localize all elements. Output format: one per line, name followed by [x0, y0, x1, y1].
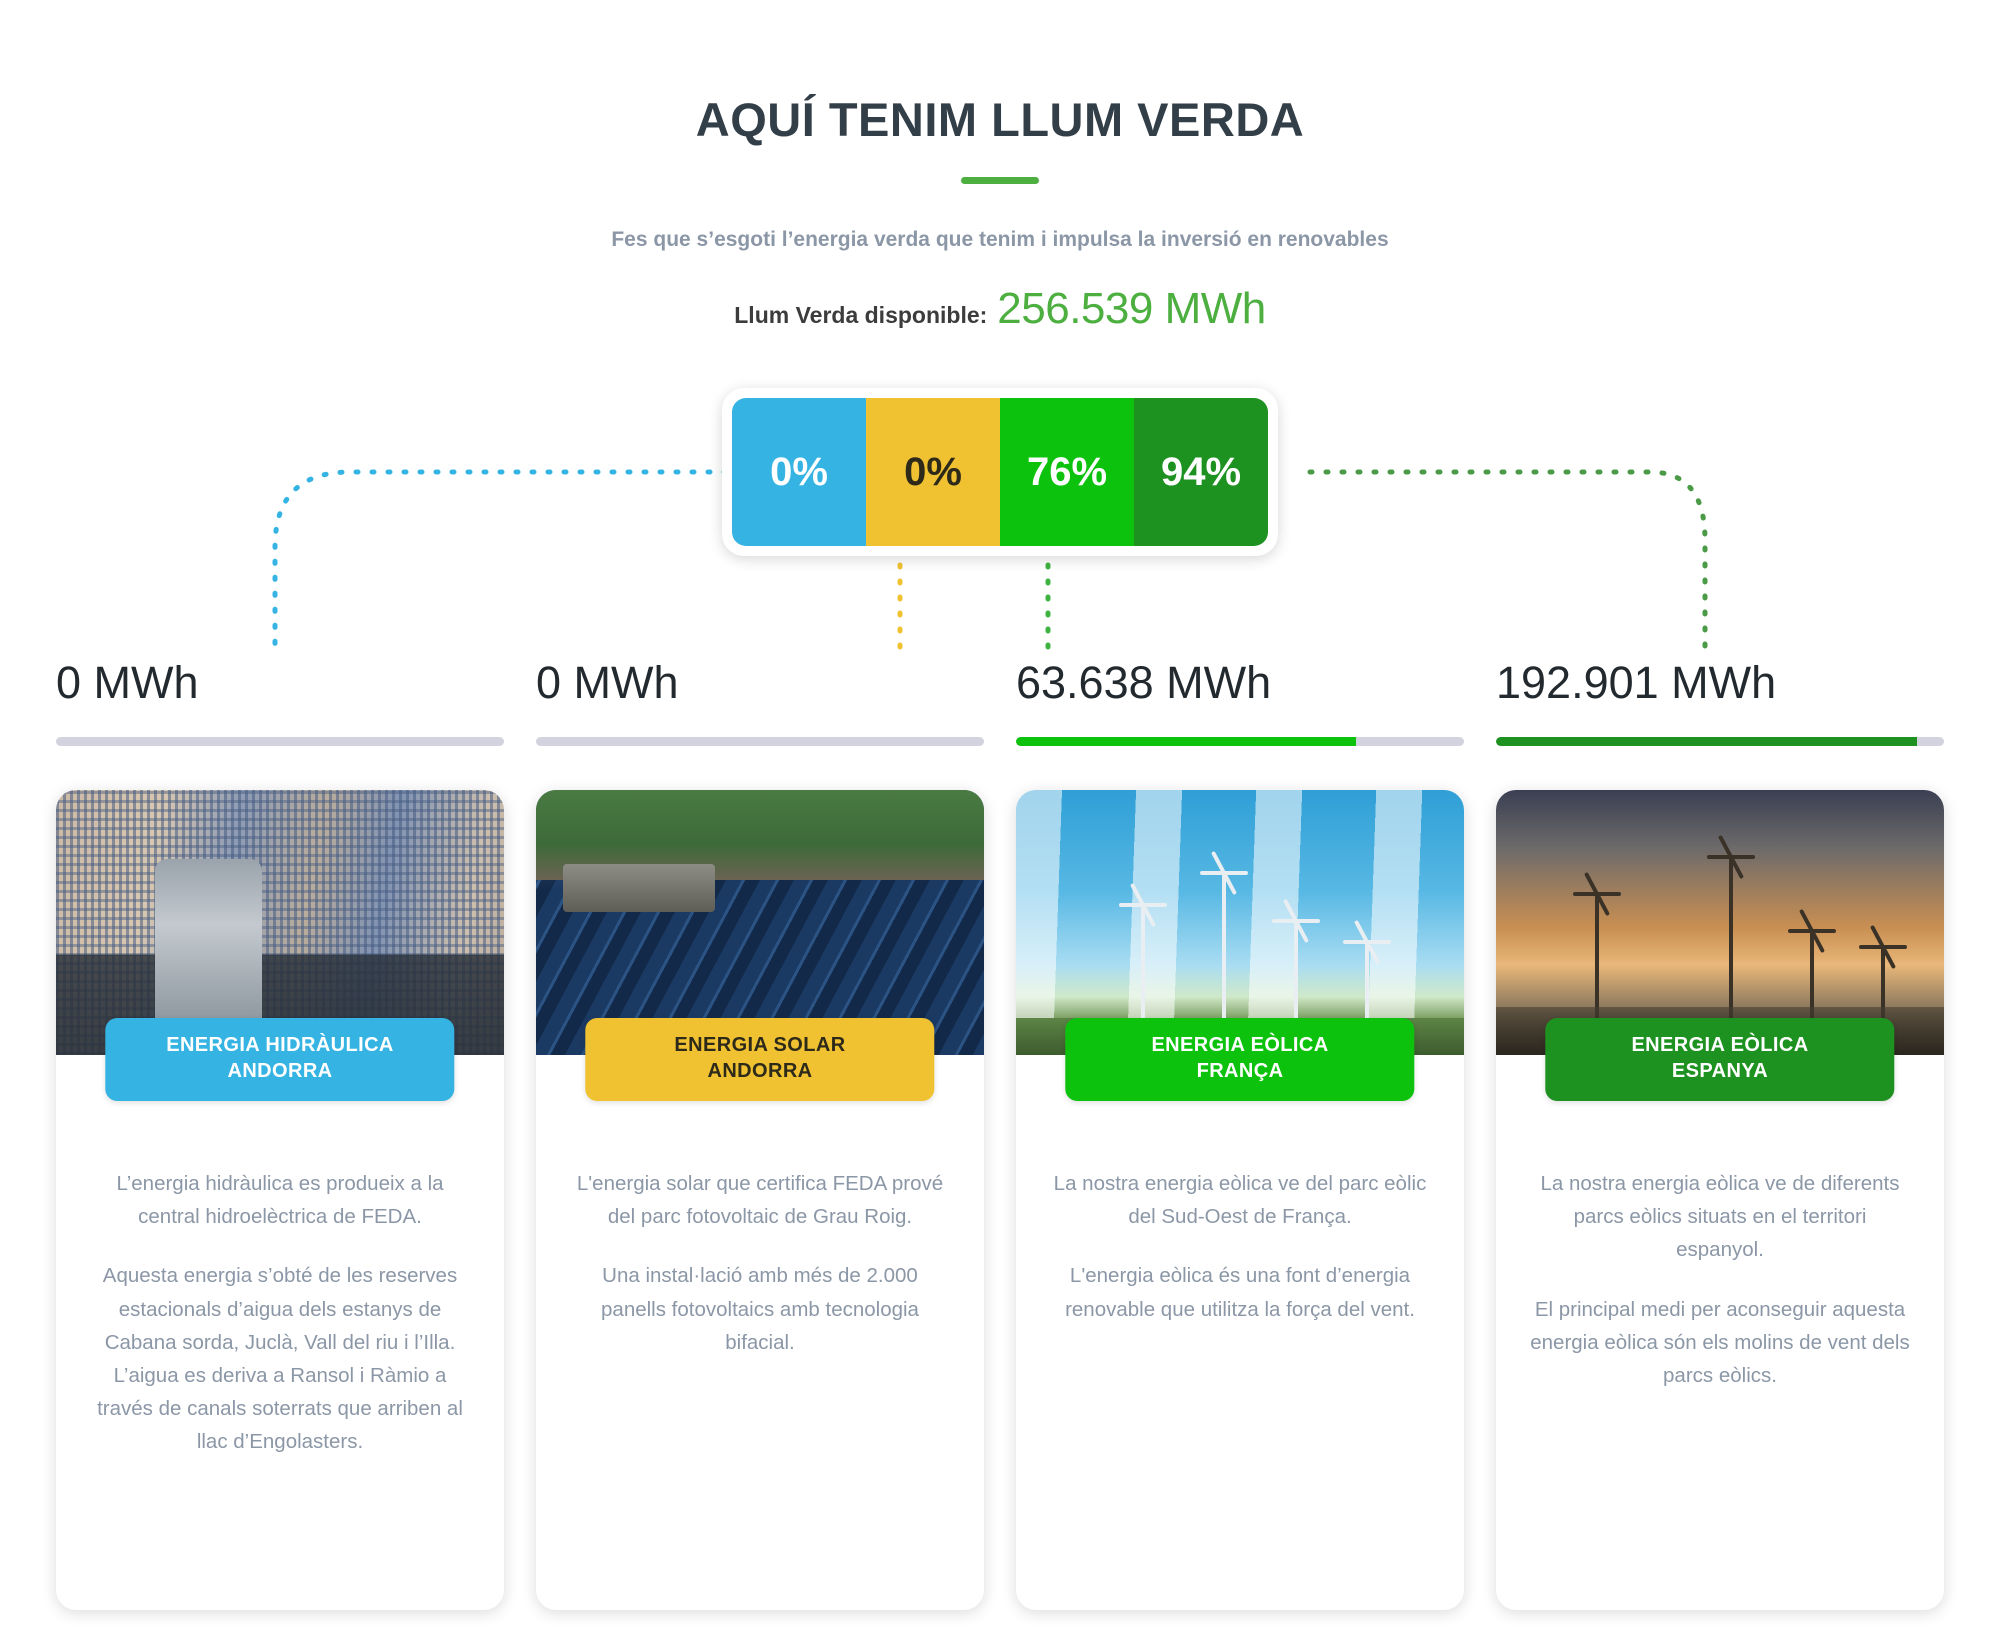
- wind-turbine-icon: [1729, 859, 1733, 1023]
- card-hydro-body: L’energia hidràulica es produeix a la ce…: [56, 1055, 504, 1499]
- segment-solar[interactable]: 0%: [866, 398, 1000, 546]
- card-solar-paragraph-2: Una instal·lació amb més de 2.000 panell…: [570, 1259, 950, 1359]
- card-wind-es-photo: [1496, 790, 1944, 1055]
- card-hydro-paragraph-2: Aquesta energia s’obté de les reserves e…: [90, 1259, 470, 1458]
- card-wind-es-badge-label: ENERGIA EÒLICAESPANYA: [1631, 1034, 1808, 1082]
- card-wind-fr-photo: [1016, 790, 1464, 1055]
- segment-wind-fr-label: 76%: [1027, 450, 1107, 495]
- metric-wind-es-track: [1496, 737, 1944, 746]
- card-wind-fr-badge: ENERGIA EÒLICAFRANÇA: [1065, 1018, 1414, 1101]
- card-wind-fr-paragraph-2: L'energia eòlica és una font d’energia r…: [1050, 1259, 1430, 1325]
- card-wind-fr-paragraph-1: La nostra energia eòlica ve del parc eòl…: [1050, 1167, 1430, 1233]
- card-solar[interactable]: ENERGIA SOLARANDORRA L'energia solar que…: [536, 790, 984, 1610]
- card-wind-es-paragraph-1: La nostra energia eòlica ve de diferents…: [1530, 1167, 1910, 1267]
- connector-hydro: [275, 472, 790, 648]
- wind-turbine-icon: [1881, 949, 1885, 1023]
- card-solar-body: L'energia solar que certifica FEDA prové…: [536, 1055, 984, 1399]
- card-wind-fr-badge-label: ENERGIA EÒLICAFRANÇA: [1151, 1034, 1328, 1082]
- card-solar-photo: [536, 790, 984, 1055]
- card-wind-fr-body: La nostra energia eòlica ve del parc eòl…: [1016, 1055, 1464, 1366]
- card-hydro[interactable]: ENERGIA HIDRÀULICAANDORRA L’energia hidr…: [56, 790, 504, 1610]
- energy-source-cards: ENERGIA HIDRÀULICAANDORRA L’energia hidr…: [0, 790, 2000, 1610]
- segmented-percent-bar: 0% 0% 76% 94%: [722, 388, 1278, 556]
- connector-wind-es: [1310, 472, 1705, 648]
- card-wind-es-body: La nostra energia eòlica ve de diferents…: [1496, 1055, 1944, 1432]
- card-wind-es-badge: ENERGIA EÒLICAESPANYA: [1545, 1018, 1894, 1101]
- card-wind-es-paragraph-2: El principal medi per aconseguir aquesta…: [1530, 1293, 1910, 1393]
- card-hydro-photo: [56, 790, 504, 1055]
- llum-verda-page: AQUÍ TENIM LLUM VERDA Fes que s’esgoti l…: [0, 0, 2000, 1649]
- connector-lines: [0, 0, 2000, 720]
- segment-wind-fr[interactable]: 76%: [1000, 398, 1134, 546]
- card-hydro-paragraph-1: L’energia hidràulica es produeix a la ce…: [90, 1167, 470, 1233]
- wind-turbine-icon: [1810, 933, 1814, 1023]
- segment-wind-es-label: 94%: [1161, 450, 1241, 495]
- card-solar-badge-label: ENERGIA SOLARANDORRA: [674, 1034, 845, 1082]
- wind-turbine-icon: [1222, 875, 1226, 1023]
- card-solar-badge: ENERGIA SOLARANDORRA: [585, 1018, 934, 1101]
- metric-wind-es-fill: [1496, 737, 1917, 746]
- segment-wind-es[interactable]: 94%: [1134, 398, 1268, 546]
- card-wind-fr[interactable]: ENERGIA EÒLICAFRANÇA La nostra energia e…: [1016, 790, 1464, 1610]
- segment-hydro-label: 0%: [770, 450, 828, 495]
- card-solar-paragraph-1: L'energia solar que certifica FEDA prové…: [570, 1167, 950, 1233]
- segment-solar-label: 0%: [904, 450, 962, 495]
- wind-turbine-icon: [1365, 944, 1369, 1024]
- wind-turbine-icon: [1141, 907, 1145, 1024]
- card-wind-es[interactable]: ENERGIA EÒLICAESPANYA La nostra energia …: [1496, 790, 1944, 1610]
- metric-hydro-track: [56, 737, 504, 746]
- wind-turbine-icon: [1595, 896, 1599, 1023]
- metric-wind-fr-fill: [1016, 737, 1356, 746]
- wind-turbine-icon: [1294, 923, 1298, 1024]
- metric-wind-fr-track: [1016, 737, 1464, 746]
- segment-hydro[interactable]: 0%: [732, 398, 866, 546]
- metric-solar-track: [536, 737, 984, 746]
- card-hydro-badge: ENERGIA HIDRÀULICAANDORRA: [105, 1018, 454, 1101]
- card-hydro-badge-label: ENERGIA HIDRÀULICAANDORRA: [166, 1034, 394, 1082]
